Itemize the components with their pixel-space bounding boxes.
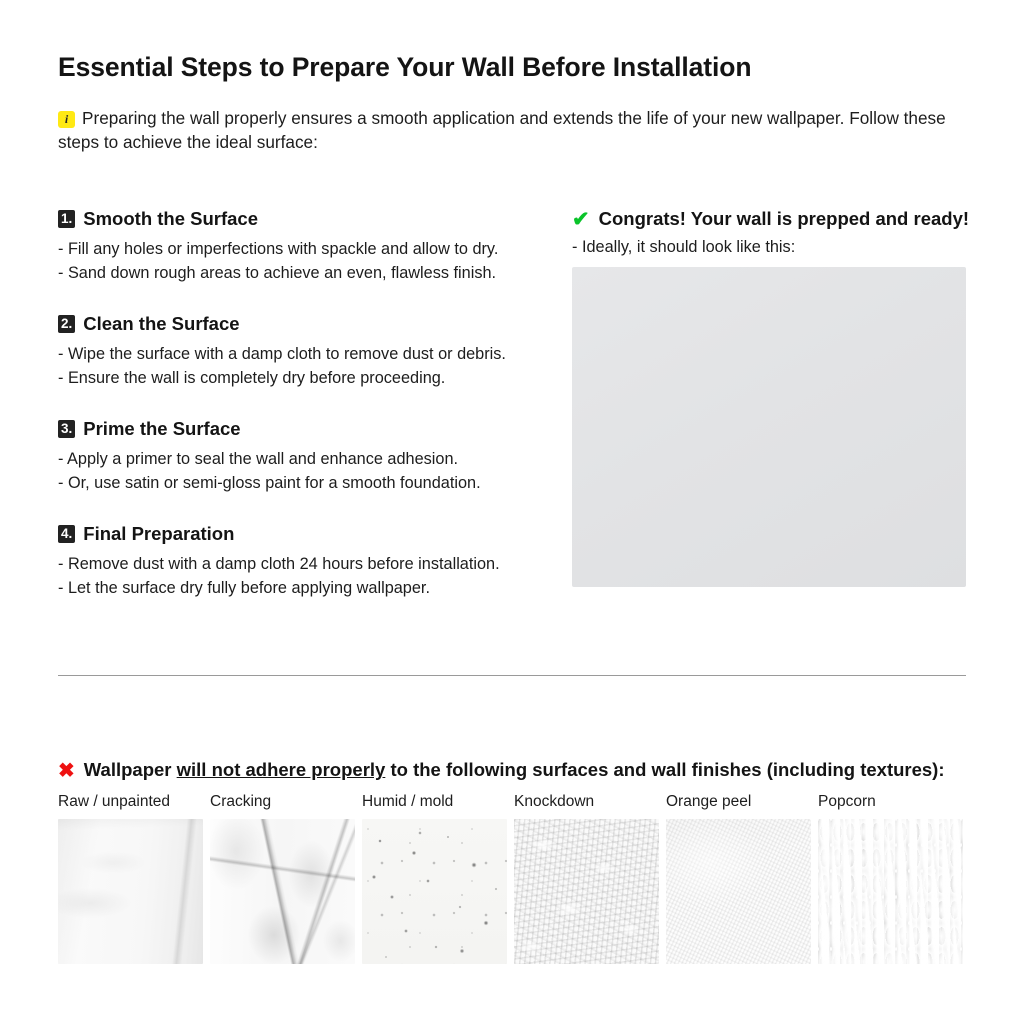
surface-thumbnail-raw-unpainted — [58, 819, 203, 964]
section-divider — [58, 675, 966, 676]
info-icon: i — [58, 111, 75, 128]
step-detail-line: - Ensure the wall is completely dry befo… — [58, 366, 548, 390]
step-number-badge: 3. — [58, 420, 75, 438]
surface-item: Knockdown — [514, 792, 659, 964]
surface-thumbnail-cracking — [210, 819, 355, 964]
step-heading-row: 1.Smooth the Surface — [58, 207, 548, 230]
warning-prefix: Wallpaper — [84, 759, 177, 780]
surface-label: Humid / mold — [362, 792, 507, 812]
steps-list: 1.Smooth the Surface - Fill any holes or… — [58, 207, 548, 600]
surface-label: Cracking — [210, 792, 355, 812]
step-detail-line: - Wipe the surface with a damp cloth to … — [58, 342, 548, 366]
surface-thumbnail-knockdown — [514, 819, 659, 964]
surface-label: Knockdown — [514, 792, 659, 812]
warning-emphasis: will not adhere properly — [177, 759, 386, 780]
step-number-badge: 4. — [58, 525, 75, 543]
surface-label: Raw / unpainted — [58, 792, 203, 812]
step-item: 1.Smooth the Surface - Fill any holes or… — [58, 207, 548, 285]
surface-thumbnail-humid-mold — [362, 819, 507, 964]
step-heading: Clean the Surface — [83, 313, 239, 334]
warning-suffix: to the following surfaces and wall finis… — [385, 759, 944, 780]
step-number-badge: 1. — [58, 210, 75, 228]
congrats-heading: Congrats! Your wall is prepped and ready… — [599, 208, 969, 229]
step-heading: Prime the Surface — [83, 418, 240, 439]
wall-prep-infographic: Essential Steps to Prepare Your Wall Bef… — [0, 0, 1024, 1024]
step-number-badge: 2. — [58, 315, 75, 333]
ideal-wall-sample-image — [572, 267, 966, 587]
congrats-panel: ✔Congrats! Your wall is prepped and read… — [572, 207, 967, 587]
step-detail-line: - Apply a primer to seal the wall and en… — [58, 447, 548, 471]
step-detail-line: - Or, use satin or semi-gloss paint for … — [58, 471, 548, 495]
step-item: 3.Prime the Surface - Apply a primer to … — [58, 417, 548, 495]
step-heading: Final Preparation — [83, 523, 234, 544]
step-detail-line: - Remove dust with a damp cloth 24 hours… — [58, 552, 548, 576]
bad-surfaces-gallery: Raw / unpainted Cracking Humid / mold Kn… — [58, 792, 970, 964]
intro-paragraph: iPreparing the wall properly ensures a s… — [58, 106, 973, 154]
step-heading-row: 4.Final Preparation — [58, 522, 548, 545]
surface-thumbnail-orange-peel — [666, 819, 811, 964]
surface-item: Orange peel — [666, 792, 811, 964]
step-heading-row: 2.Clean the Surface — [58, 312, 548, 335]
step-detail-line: - Let the surface dry fully before apply… — [58, 576, 548, 600]
check-icon: ✔ — [572, 211, 590, 229]
step-heading: Smooth the Surface — [83, 208, 258, 229]
step-detail-line: - Sand down rough areas to achieve an ev… — [58, 261, 548, 285]
step-item: 4.Final Preparation - Remove dust with a… — [58, 522, 548, 600]
surface-item: Humid / mold — [362, 792, 507, 964]
step-heading-row: 3.Prime the Surface — [58, 417, 548, 440]
surface-thumbnail-popcorn — [818, 819, 963, 964]
intro-text: Preparing the wall properly ensures a sm… — [58, 108, 946, 152]
step-item: 2.Clean the Surface - Wipe the surface w… — [58, 312, 548, 390]
congrats-heading-row: ✔Congrats! Your wall is prepped and read… — [572, 207, 967, 230]
surface-item: Raw / unpainted — [58, 792, 203, 964]
warning-heading: ✖Wallpaper will not adhere properly to t… — [58, 758, 945, 783]
surface-item: Popcorn — [818, 792, 963, 964]
page-title: Essential Steps to Prepare Your Wall Bef… — [58, 52, 751, 83]
surface-item: Cracking — [210, 792, 355, 964]
surface-label: Orange peel — [666, 792, 811, 812]
surface-label: Popcorn — [818, 792, 963, 812]
congrats-subtext: - Ideally, it should look like this: — [572, 236, 967, 258]
x-icon: ✖ — [58, 759, 75, 783]
step-detail-line: - Fill any holes or imperfections with s… — [58, 237, 548, 261]
